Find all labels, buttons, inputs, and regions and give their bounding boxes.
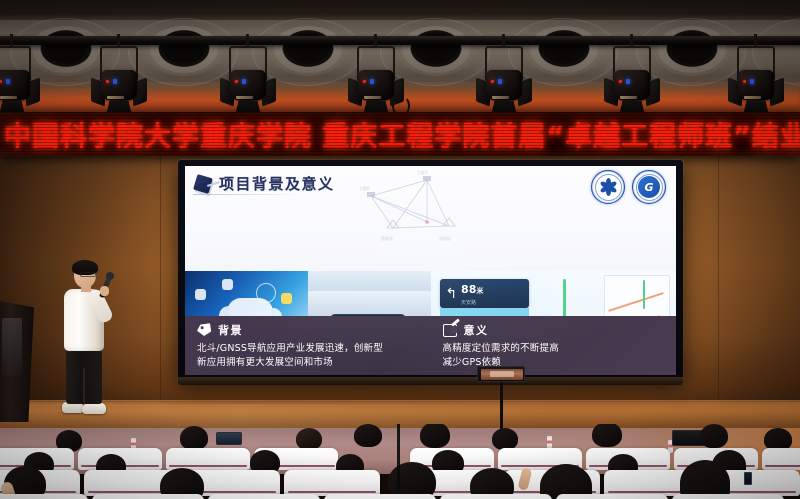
glasses-icon [80,272,96,277]
seat [324,494,436,499]
tag-icon [197,324,212,337]
svg-text:基准站: 基准站 [381,235,393,241]
nav-street: 天安路 [461,299,483,306]
stage-light-fixture [606,44,658,116]
nav-unit: 米 [476,288,483,295]
pen-icon [443,324,458,337]
audience-head [592,424,622,447]
seat [166,448,250,470]
led-banner: 中国科学院大学重庆学院 重庆工程学院首届“卓越工程师班”结业 [0,112,800,156]
presenter [56,262,118,422]
slide-lower-section: 背景 北斗/GNSS导航应用产业发展迅速，创新型新应用拥有更大发展空间和市场 意… [185,316,676,375]
tripod-recording-rig [497,366,505,432]
column-title: 意义 [464,322,489,338]
ceiling-recess [146,26,222,76]
auditorium-photo: 中国科学院大学重庆学院 重庆工程学院首届“卓越工程师班”结业 项目背景及意义 [0,0,800,499]
cqie-monogram: G [638,176,660,198]
hand [100,286,109,296]
navigation-card: ↰ 88米 天安路 [440,279,528,308]
audience-head [420,424,450,448]
seat [556,494,668,499]
seat [284,470,380,496]
seat [440,494,552,499]
stage-light-fixture [222,44,274,116]
svg-text:卫星A: 卫星A [417,170,428,175]
ucas-logo [591,170,625,204]
column-body: 高精度定位需求的不断提高 减少GPS依赖 [443,342,633,369]
aisle-post [397,424,400,492]
cqie-logo: G [632,170,666,204]
laptop [216,432,242,445]
title-underline [193,194,303,195]
shoe-right [82,403,106,414]
institution-logos: G [591,170,666,204]
seat [92,494,204,499]
satellite-network-diagram: 卫星A 卫星B 基准站 流动站 [331,170,511,248]
stage-light-fixture [730,44,782,116]
ceiling-recess [398,26,474,76]
seat [0,494,88,499]
svg-text:流动站: 流动站 [439,235,451,241]
stage-light-fixture [478,44,530,116]
seat [672,494,784,499]
phone-screen-preview [481,369,523,380]
banner-assembly: 中国科学院大学重庆学院 重庆工程学院首届“卓越工程师班”结业 [0,112,800,158]
audience-head [296,428,322,450]
slide-column-significance: 意义 高精度定位需求的不断提高 减少GPS依赖 [431,316,677,375]
stage-light-fixture [0,44,38,116]
ceiling-recess [654,26,730,76]
slide-column-background: 背景 北斗/GNSS导航应用产业发展迅速，创新型新应用拥有更大发展空间和市场 [185,316,431,375]
column-title: 背景 [218,322,243,338]
slide-title: 项目背景及意义 [219,173,335,194]
projection-screen: 项目背景及意义 [178,160,683,382]
ceiling-recess [270,26,346,76]
audience-seating [0,424,800,499]
presentation-slide: 项目背景及意义 [185,166,676,375]
stage-light-fixture [93,44,145,116]
svg-text:卫星B: 卫星B [359,185,370,191]
smartphone-on-tripod [477,366,525,382]
flower-icon [598,177,618,197]
phone-held-up [744,472,752,485]
led-banner-text: 中国科学院大学重庆学院 重庆工程学院首届“卓越工程师班”结业 [4,115,800,154]
ceiling-recess [526,26,602,76]
column-body: 北斗/GNSS导航应用产业发展迅速，创新型新应用拥有更大发展空间和市场 [197,342,387,369]
audience-head [492,428,518,450]
seat [762,448,800,470]
seat [208,494,320,499]
screen-bottom-lip [178,377,683,385]
nav-distance: 88 [461,283,476,296]
lectern-panel [2,318,22,376]
turn-left-icon: ↰ [445,286,457,300]
audience-head [180,426,208,450]
audience-head [700,424,728,448]
audience-head [354,424,382,447]
